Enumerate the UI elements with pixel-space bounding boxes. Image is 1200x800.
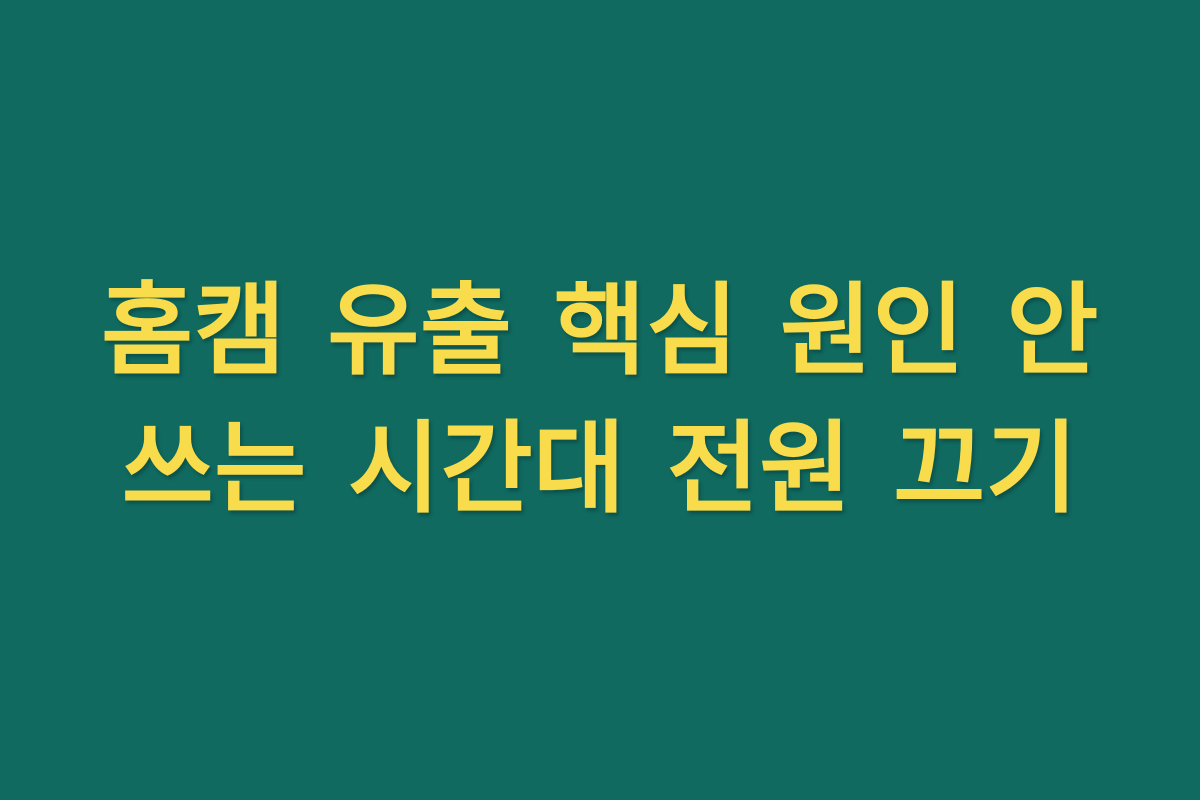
headline-line-2: 쓰는 시간대 전원 끄기 xyxy=(70,400,1130,538)
headline-text: 홈캠 유출 핵심 원인 안 쓰는 시간대 전원 끄기 xyxy=(70,262,1130,538)
title-card: 홈캠 유출 핵심 원인 안 쓰는 시간대 전원 끄기 xyxy=(0,0,1200,800)
headline-line-1: 홈캠 유출 핵심 원인 안 xyxy=(70,262,1130,400)
